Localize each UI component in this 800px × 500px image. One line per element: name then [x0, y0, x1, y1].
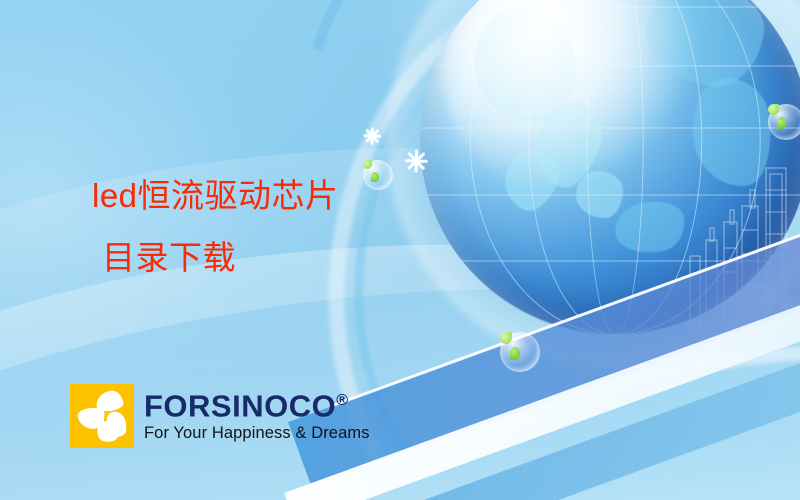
headline-line-2: 目录下载	[92, 227, 339, 289]
brand-tagline: For Your Happiness & Dreams	[144, 423, 370, 443]
ribbon-arc-cyan	[417, 310, 800, 500]
globe-landmass	[640, 0, 770, 93]
brand-logo-text: FORSINOCO® For Your Happiness & Dreams	[144, 384, 370, 443]
four-petal-pinwheel-icon	[70, 384, 134, 448]
bubble-icon	[768, 104, 800, 140]
flower-sparkle-icon	[404, 148, 429, 173]
globe-landmass	[495, 140, 567, 218]
city-skyline-icon	[680, 160, 800, 330]
globe-landmass	[611, 197, 689, 259]
brand-name: FORSINOCO®	[144, 385, 370, 422]
brand-logo: FORSINOCO® For Your Happiness & Dreams	[70, 384, 370, 448]
bubble-icon	[500, 332, 540, 372]
globe-landmass	[464, 0, 588, 134]
flower-sparkle-icon	[363, 126, 382, 145]
registered-trademark-icon: ®	[336, 392, 348, 409]
bubble-icon	[363, 160, 393, 190]
headline-line-1: led恒流驱动芯片	[92, 177, 339, 214]
globe-landmass	[525, 93, 611, 194]
banner-image: led恒流驱动芯片 目录下载 FORSINOCO® For Your Happi…	[0, 0, 800, 500]
page-title: led恒流驱动芯片 目录下载	[92, 165, 339, 289]
globe-highlight	[443, 0, 700, 195]
brand-name-word: FORSINOCO	[144, 388, 336, 423]
globe-landmass	[576, 171, 623, 218]
